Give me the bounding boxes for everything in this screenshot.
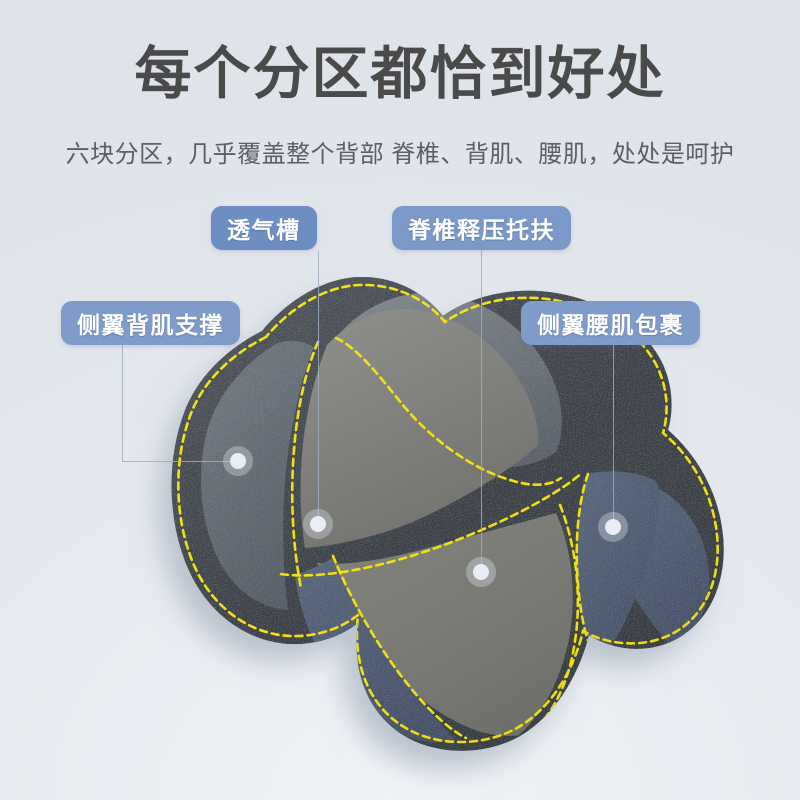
product-feature-panel: 每个分区都恰到好处 六块分区，几乎覆盖整个背部 脊椎、背肌、腰肌，处处是呵护 透… — [0, 0, 800, 800]
leader-line-spine — [481, 250, 482, 572]
page-title: 每个分区都恰到好处 — [0, 46, 800, 103]
page-subtitle: 六块分区，几乎覆盖整个背部 脊椎、背肌、腰肌，处处是呵护 — [0, 143, 800, 167]
callout-badge-lumbar-wing[interactable]: 侧翼腰肌包裹 — [521, 301, 700, 345]
hotspot-dot-lumbar-wing — [605, 519, 621, 535]
callout-badge-back-wing[interactable]: 侧翼背肌支撑 — [61, 301, 240, 345]
hotspot-dot-vent — [310, 516, 326, 532]
leader-line-back-wing-horizontal — [122, 461, 238, 462]
leader-line-lumbar-wing — [613, 345, 614, 527]
lumbar-cushion-illustration — [0, 0, 800, 800]
leader-line-back-wing-vertical — [122, 345, 123, 461]
hotspot-dot-spine — [473, 564, 489, 580]
leader-line-vent — [318, 250, 319, 524]
hotspot-dot-back-wing — [230, 453, 246, 469]
callout-badge-vent[interactable]: 透气槽 — [211, 206, 317, 250]
callout-badge-spine[interactable]: 脊椎释压托扶 — [392, 206, 571, 250]
